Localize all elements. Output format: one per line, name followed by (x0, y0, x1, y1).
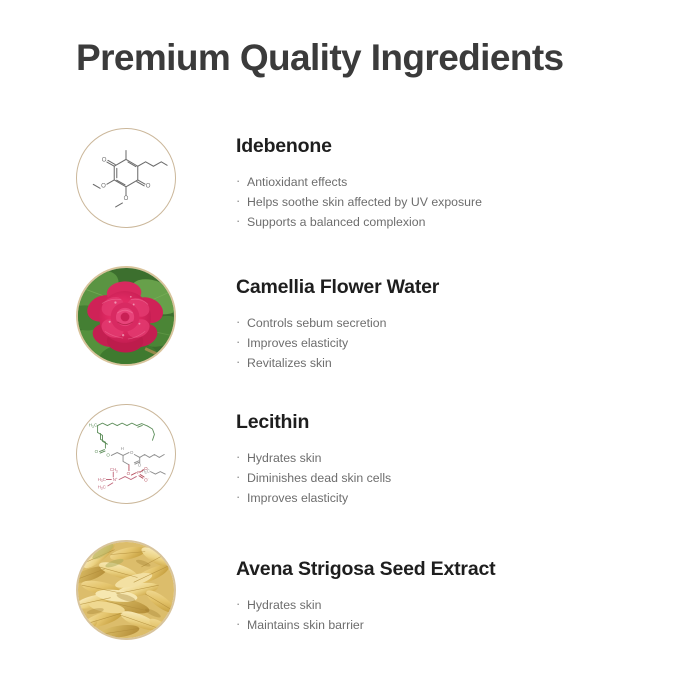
benefit-item: Controls sebum secretion (236, 313, 439, 333)
page-title: Premium Quality Ingredients (76, 38, 564, 79)
svg-text:+: + (116, 476, 118, 480)
svg-text:O: O (138, 463, 142, 468)
svg-text:O: O (146, 183, 151, 189)
benefit-item: Helps soothe skin affected by UV exposur… (236, 192, 482, 212)
benefit-list: Hydrates skin Maintains skin barrier (236, 595, 495, 635)
benefit-item: Improves elasticity (236, 333, 439, 353)
idebenone-molecule-diagram: O O O O (76, 128, 176, 228)
svg-text:H: H (121, 446, 124, 451)
ingredient-name: Avena Strigosa Seed Extract (236, 560, 495, 580)
benefit-item: Hydrates skin (236, 595, 495, 615)
svg-text:O: O (101, 183, 106, 189)
benefit-item: Maintains skin barrier (236, 615, 495, 635)
svg-text:O: O (144, 466, 148, 471)
benefit-item: Revitalizes skin (236, 353, 439, 373)
svg-text:O: O (95, 449, 99, 454)
benefit-item: Improves elasticity (236, 488, 391, 508)
benefit-list: Controls sebum secretion Improves elasti… (236, 313, 439, 373)
svg-text:O: O (127, 471, 131, 476)
benefit-item: Diminishes dead skin cells (236, 468, 391, 488)
benefit-list: Antioxidant effects Helps soothe skin af… (236, 172, 482, 232)
benefit-item: Hydrates skin (236, 448, 391, 468)
svg-text:C: C (103, 484, 107, 489)
svg-text:O: O (130, 450, 134, 455)
ingredient-name: Camellia Flower Water (236, 278, 439, 298)
ingredient-text: Idebenone Antioxidant effects Helps soot… (236, 137, 482, 232)
lecithin-molecule-diagram: H 3 C O O H (76, 404, 176, 504)
svg-text:3: 3 (116, 469, 118, 473)
ingredient-name: Idebenone (236, 137, 482, 157)
benefit-item: Supports a balanced complexion (236, 212, 482, 232)
svg-text:O: O (102, 158, 107, 164)
benefit-item: Antioxidant effects (236, 172, 482, 192)
ingredients-infographic: Premium Quality Ingredients O O (0, 0, 679, 679)
ingredient-name: Lecithin (236, 413, 391, 433)
ingredient-text: Lecithin Hydrates skin Diminishes dead s… (236, 413, 391, 508)
ingredient-text: Avena Strigosa Seed Extract Hydrates ski… (236, 560, 495, 635)
svg-text:O: O (124, 196, 129, 202)
svg-text:-: - (148, 476, 149, 480)
camellia-flower-photo (76, 266, 176, 366)
svg-text:O: O (106, 452, 110, 457)
ingredient-text: Camellia Flower Water Controls sebum sec… (236, 278, 439, 373)
oat-grains-photo (76, 540, 176, 640)
benefit-list: Hydrates skin Diminishes dead skin cells… (236, 448, 391, 508)
